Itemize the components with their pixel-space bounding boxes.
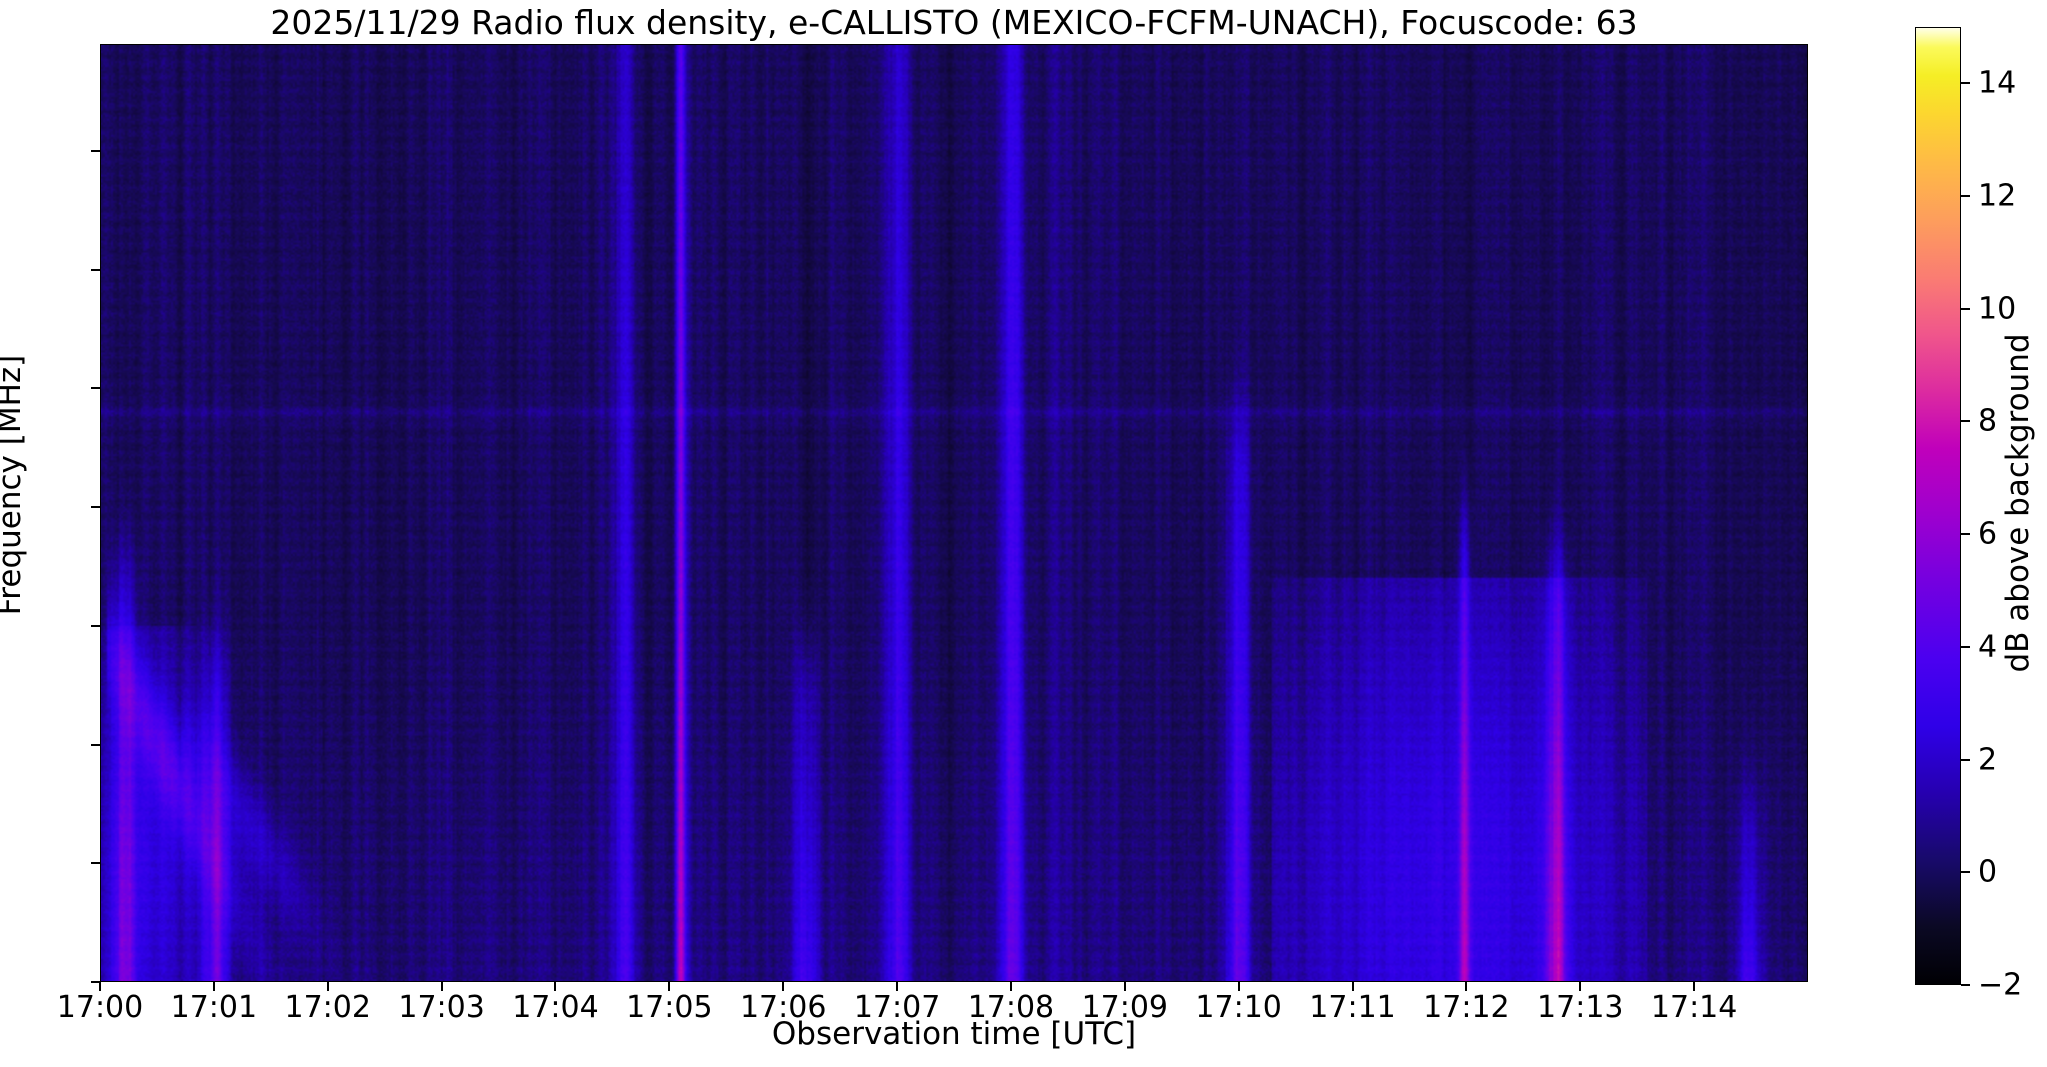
x-tick-mark [896,982,898,991]
y-tick-mark [91,744,100,746]
colorbar-tick-mark [1961,871,1970,873]
colorbar-tick-mark [1961,82,1970,84]
x-tick-label: 17:10 [1195,990,1281,1025]
y-tick-mark [91,625,100,627]
colorbar-tick-mark [1961,646,1970,648]
x-tick-mark [1010,982,1012,991]
x-tick-mark [668,982,670,991]
page-title: 2025/11/29 Radio flux density, e-CALLIST… [100,4,1808,42]
colorbar-tick-label: 4 [1978,629,1997,664]
x-tick-label: 17:08 [968,990,1054,1025]
colorbar-tick-mark [1961,195,1970,197]
spectrogram-axes [100,44,1808,982]
x-tick-label: 17:06 [740,990,826,1025]
x-tick-label: 17:09 [1082,990,1168,1025]
x-tick-label: 17:05 [626,990,712,1025]
y-axis-label: Frequency [MHz] [0,15,28,955]
x-tick-mark [99,982,101,991]
y-tick-mark [91,506,100,508]
colorbar-tick-label: 0 [1978,855,1997,890]
x-tick-mark [1579,982,1581,991]
colorbar-tick-mark [1961,759,1970,761]
x-tick-label: 17:04 [512,990,598,1025]
x-tick-label: 17:13 [1537,990,1623,1025]
x-tick-mark [213,982,215,991]
colorbar-tick-mark [1961,420,1970,422]
y-tick-mark [91,150,100,152]
x-tick-label: 17:02 [284,990,370,1025]
colorbar-tick-mark [1961,984,1970,986]
x-tick-label: 17:00 [57,990,143,1025]
colorbar-tick-mark [1961,308,1970,310]
x-tick-mark [1465,982,1467,991]
x-tick-mark [327,982,329,991]
x-tick-mark [1693,982,1695,991]
x-tick-mark [554,982,556,991]
colorbar-label: dB above background [2000,33,2036,973]
x-tick-mark [1124,982,1126,991]
colorbar-tick-mark [1961,533,1970,535]
x-tick-label: 17:14 [1651,990,1737,1025]
colorbar-gradient [1916,28,1960,984]
figure-canvas: 2025/11/29 Radio flux density, e-CALLIST… [0,0,2047,1067]
y-tick-mark [91,269,100,271]
spectrogram-image [101,45,1807,981]
x-tick-label: 17:03 [398,990,484,1025]
colorbar-tick-label: 6 [1978,517,1997,552]
x-tick-label: 17:07 [854,990,940,1025]
x-tick-mark [441,982,443,991]
y-tick-mark [91,387,100,389]
x-tick-label: 17:11 [1309,990,1395,1025]
colorbar-tick-label: 8 [1978,404,1997,439]
colorbar [1915,27,1961,985]
x-tick-label: 17:01 [171,990,257,1025]
x-tick-label: 17:12 [1423,990,1509,1025]
x-tick-mark [1352,982,1354,991]
x-tick-mark [1238,982,1240,991]
colorbar-tick-label: 2 [1978,742,1997,777]
y-tick-mark [91,862,100,864]
x-tick-mark [782,982,784,991]
